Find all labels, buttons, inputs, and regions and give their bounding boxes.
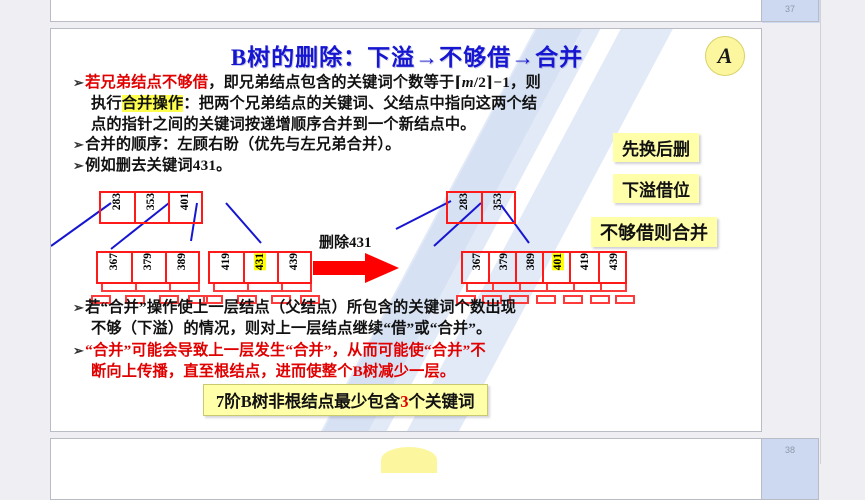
before-root-sep-2 [168,191,170,224]
bullet-5-line-2: 断向上传播，直至根结点，进而使整个B树减少一层。 [73,361,455,382]
bullet-marker-icon: ➢ [73,75,84,90]
after-merged-key-4: 419 [579,253,591,270]
after-merged-child-node [461,251,627,284]
slide-content: B树的删除：下溢→不够借→合并 A ➢若兄弟结点不够借，即兄弟结点包含的关键词个… [51,29,762,432]
before-leaf-stem [101,284,103,291]
bottom-note-prefix: 7阶B树非根结点最少包含 [216,392,400,411]
before-left-key-0: 367 [108,253,120,270]
note-box-1: 先换后删 [613,133,699,162]
bullet-marker-icon: ➢ [73,137,84,152]
before-root-key-1: 353 [145,193,157,210]
before-right-key-0: 419 [220,253,232,270]
after-merged-key-0: 367 [471,253,483,270]
before-right-sep-2 [277,251,279,284]
before-left-sep-1 [131,251,133,284]
bullet-marker-icon: ➢ [73,300,84,315]
badge-a: A [705,36,745,76]
bullet-3: ➢例如删去关键词431。 [73,155,693,176]
after-merged-key-1: 379 [498,253,510,270]
after-merged-sep-5 [598,251,600,284]
bottom-note-number: 3 [400,392,408,411]
previous-slide-card[interactable]: 吉林大学计算机科学与技术学院 朱允刚 [50,0,762,22]
before-leaf-rail-left [101,290,200,292]
page-title: B树的删除：下溢→不够借→合并 [51,38,762,72]
bullet-1-line-2-b: ：把两个兄弟结点的关键词、父结点中指向这两个结 [183,95,537,112]
bullet-1-line-2-a: 执行 [73,93,122,114]
operation-label: 删除431 [319,231,372,252]
before-leaf-stem [310,284,312,291]
next-slide-card[interactable] [50,438,762,500]
bullet-2: ➢合并的顺序：左顾右盼（优先与左兄弟合并）。 [73,134,693,155]
after-leaf-stem [625,284,627,291]
before-leaf-stem [247,284,249,291]
before-root-sep-1 [134,191,136,224]
bullet-4-line-1: 若“合并”操作使上一层结点（父结点）所包含的关键词个数出现 [85,299,516,316]
after-merged-sep-2 [515,251,517,284]
before-leaf-rail-right [213,290,312,292]
btree-diagram: 283 353 401 367 379 389 419 431 439 [51,191,762,296]
before-left-key-2: 389 [176,253,188,270]
bullet-1-line-3: 点的指针之间的关键词按递增顺序合并到一个新结点中。 [73,114,476,135]
before-left-sep-2 [165,251,167,284]
after-merged-sep-1 [488,251,490,284]
page-number-37: 37 [761,0,819,22]
after-root-sep-1 [481,191,483,224]
after-merged-key-3-highlighted: 401 [552,253,564,270]
before-root-key-0: 283 [111,193,123,210]
bullet-5-line-1: “合并”可能会导致上一层发生“合并”，从而可能使“合并”不 [85,342,486,359]
after-leaf-stem [573,284,575,291]
after-leaf-stem [466,284,468,291]
bullet-4: ➢若“合并”操作使上一层结点（父结点）所包含的关键词个数出现 不够（下溢）的情况… [73,297,733,339]
after-merged-sep-3 [542,251,544,284]
bullet-1-line-1-rest: ，即兄弟结点包含的关键词个数等于⌈m/2⌉−1，则 [208,74,541,91]
after-leaf-stem [492,284,494,291]
bottom-note-suffix: 个关键词 [409,392,475,411]
current-slide-card[interactable]: B树的删除：下溢→不够借→合并 A ➢若兄弟结点不够借，即兄弟结点包含的关键词个… [50,28,762,432]
after-merged-sep-4 [569,251,571,284]
after-merged-key-2: 389 [525,253,537,270]
before-left-key-1: 379 [142,253,154,270]
page-number-38: 38 [761,438,819,500]
bullet-4-line-2: 不够（下溢）的情况，则对上一层结点继续“借”或“合并”。 [73,318,491,339]
after-leaf-stem [546,284,548,291]
before-right-key-2: 439 [288,253,300,270]
slide-viewer: 吉林大学计算机科学与技术学院 朱允刚 37 B树的删除：下溢→不够借→合并 A … [0,0,865,464]
bottom-note-box: 7阶B树非根结点最少包含3个关键词 [203,384,488,416]
after-leaf-stem [600,284,602,291]
bullet-2-text: 合并的顺序：左顾右盼（优先与左兄弟合并）。 [85,136,401,153]
bullet-1: ➢若兄弟结点不够借，即兄弟结点包含的关键词个数等于⌈m/2⌉−1，则 执行合并操… [73,72,748,135]
before-leaf-stem [169,284,171,291]
before-leaf-stem [213,284,215,291]
right-rail [820,0,865,464]
next-slide-shape [381,447,437,473]
bullet-1-highlight: 合并操作 [122,95,184,112]
after-leaf-stem [519,284,521,291]
bullet-1-red-lead: 若兄弟结点不够借 [85,74,208,91]
before-leaf-stem [135,284,137,291]
bullet-marker-icon: ➢ [73,158,84,173]
before-root-key-2: 401 [179,193,191,210]
after-root-key-1: 353 [492,193,504,210]
before-leaf-stem [198,284,200,291]
bullet-5: ➢“合并”可能会导致上一层发生“合并”，从而可能使“合并”不 断向上传播，直至根… [73,340,733,382]
bullet-marker-icon: ➢ [73,343,84,358]
after-root-key-0: 283 [458,193,470,210]
before-right-sep-1 [243,251,245,284]
left-gutter [0,0,50,464]
before-right-key-1-highlighted: 431 [254,253,266,270]
before-leaf-stem [281,284,283,291]
bullet-3-text: 例如删去关键词431。 [85,157,231,174]
transition-arrow-icon [313,253,399,283]
after-merged-key-5: 439 [608,253,620,270]
